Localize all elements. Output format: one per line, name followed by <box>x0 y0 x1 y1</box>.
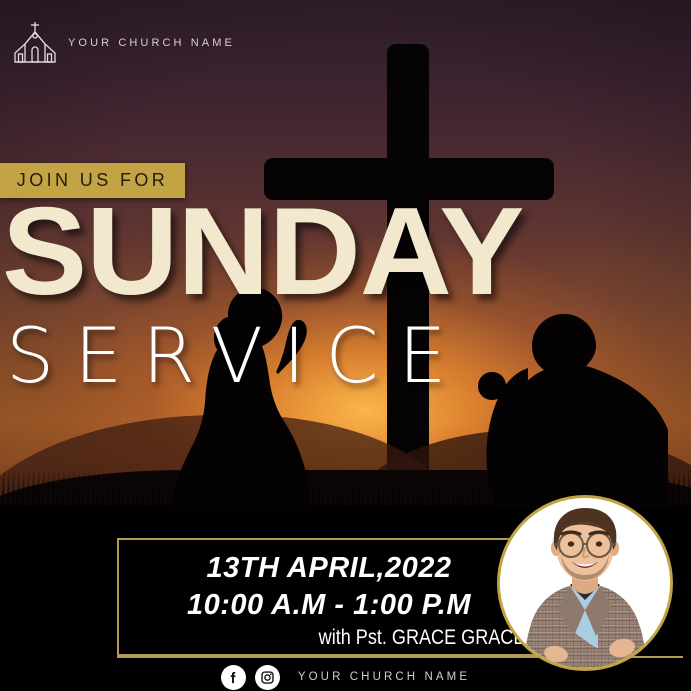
event-date: 13TH APRIL,2022 <box>119 552 539 585</box>
social-footer: YOUR CHURCH NAME <box>0 663 691 691</box>
event-time: 10:00 A.M - 1:00 P.M <box>119 589 539 622</box>
headline-sunday: SUNDAY <box>2 190 682 314</box>
church-building-icon <box>12 20 58 66</box>
instagram-glyph <box>260 670 275 685</box>
event-speaker: with Pst. GRACE GRACE <box>318 626 525 650</box>
instagram-icon[interactable] <box>255 665 280 690</box>
headline-service: SERVICE <box>6 318 676 394</box>
speaker-portrait-illustration <box>500 498 670 668</box>
brand-name: YOUR CHURCH NAME <box>68 37 235 49</box>
social-handle: YOUR CHURCH NAME <box>298 671 470 683</box>
event-info-box: 13TH APRIL,2022 10:00 A.M - 1:00 P.M wit… <box>117 538 541 656</box>
speaker-avatar <box>497 495 673 671</box>
facebook-glyph <box>226 670 241 685</box>
brand-logo[interactable]: YOUR CHURCH NAME <box>12 20 235 66</box>
sunday-service-flyer: YOUR CHURCH NAME JOIN US FOR SUNDAY SERV… <box>0 0 691 691</box>
facebook-icon[interactable] <box>221 665 246 690</box>
